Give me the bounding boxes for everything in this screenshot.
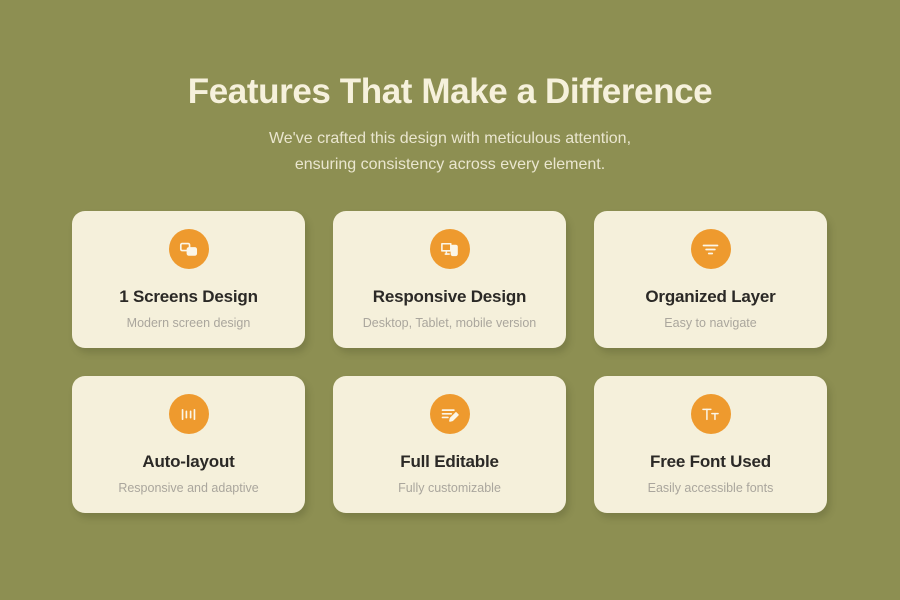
card-title: 1 Screens Design <box>119 269 258 307</box>
page-subtitle: We've crafted this design with meticulou… <box>170 126 730 177</box>
feature-card-full-editable[interactable]: Full Editable Fully customizable <box>333 376 566 513</box>
feature-card-auto-layout[interactable]: Auto-layout Responsive and adaptive <box>72 376 305 513</box>
icon-badge <box>169 394 209 434</box>
page-subtitle-line-1: We've crafted this design with meticulou… <box>170 126 730 152</box>
card-title: Auto-layout <box>142 434 234 472</box>
card-title: Full Editable <box>400 434 498 472</box>
typography-tt-icon <box>700 404 721 425</box>
card-title: Free Font Used <box>650 434 771 472</box>
windows-copy-icon <box>178 239 199 260</box>
card-subtitle: Fully customizable <box>398 472 501 496</box>
card-subtitle: Easy to navigate <box>664 307 756 331</box>
card-title: Organized Layer <box>645 269 775 307</box>
page-subtitle-line-2: ensuring consistency across every elemen… <box>170 152 730 178</box>
feature-card-free-font-used[interactable]: Free Font Used Easily accessible fonts <box>594 376 827 513</box>
icon-badge <box>691 229 731 269</box>
icon-badge <box>169 229 209 269</box>
card-title: Responsive Design <box>373 269 526 307</box>
feature-card-organized-layer[interactable]: Organized Layer Easy to navigate <box>594 211 827 348</box>
feature-card-screens-design[interactable]: 1 Screens Design Modern screen design <box>72 211 305 348</box>
feature-cards-grid: 1 Screens Design Modern screen design Re… <box>72 211 828 513</box>
card-subtitle: Easily accessible fonts <box>648 472 774 496</box>
monitor-phone-icon <box>439 239 460 260</box>
auto-layout-bars-icon <box>178 404 199 425</box>
filter-lines-icon <box>700 239 721 260</box>
card-subtitle: Responsive and adaptive <box>118 472 258 496</box>
feature-card-responsive-design[interactable]: Responsive Design Desktop, Tablet, mobil… <box>333 211 566 348</box>
icon-badge <box>430 394 470 434</box>
edit-pencil-lines-icon <box>439 404 460 425</box>
card-subtitle: Desktop, Tablet, mobile version <box>363 307 536 331</box>
card-subtitle: Modern screen design <box>127 307 251 331</box>
features-section: Features That Make a Difference We've cr… <box>0 0 900 600</box>
section-header: Features That Make a Difference We've cr… <box>0 0 900 177</box>
icon-badge <box>430 229 470 269</box>
icon-badge <box>691 394 731 434</box>
page-title: Features That Make a Difference <box>0 72 900 112</box>
